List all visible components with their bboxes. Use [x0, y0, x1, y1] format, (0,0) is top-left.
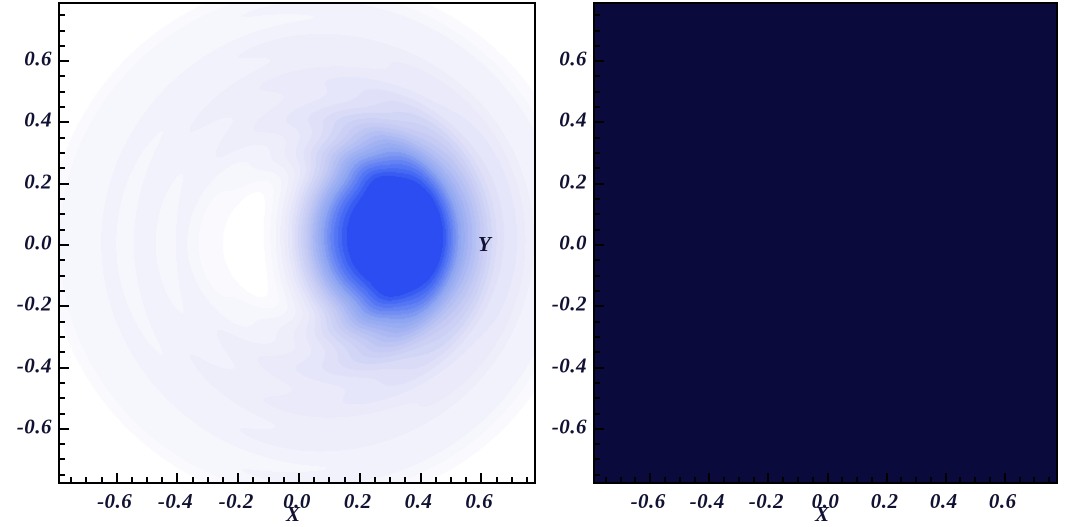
y-tick-label: 0.4: [24, 108, 52, 133]
x-tick-label: 0.2: [871, 489, 899, 514]
right-plot-panel: 0.60.40.20.0-0.2-0.4-0.6 -0.6-0.4-0.20.0…: [593, 2, 1058, 484]
y-tick-label: -0.2: [552, 292, 587, 317]
y-tick-label: -0.4: [552, 353, 587, 378]
right-y-axis-title: Y: [478, 232, 491, 257]
y-tick-label: 0.0: [559, 231, 587, 256]
right-plot-canvas-box: [595, 4, 1056, 482]
y-tick-label: 0.0: [24, 231, 52, 256]
y-tick-label: 0.2: [559, 169, 587, 194]
left-y-tick-labels: 0.60.40.20.0-0.2-0.4-0.6: [0, 2, 52, 484]
x-tick-label: 0.6: [465, 489, 493, 514]
y-tick-label: 0.4: [559, 108, 587, 133]
x-tick-label: -0.2: [219, 489, 254, 514]
x-tick-label: 0.4: [930, 489, 958, 514]
figure-root: 0.60.40.20.0-0.2-0.4-0.6 -0.6-0.4-0.20.0…: [0, 0, 1070, 521]
x-tick-label: -0.2: [749, 489, 784, 514]
y-tick-label: 0.6: [559, 47, 587, 72]
y-tick-label: -0.6: [17, 414, 52, 439]
y-tick-label: -0.6: [552, 414, 587, 439]
left-plot-frame: [58, 2, 536, 484]
y-tick-label: -0.4: [17, 353, 52, 378]
y-tick-label: -0.2: [17, 292, 52, 317]
x-tick-label: 0.6: [989, 489, 1017, 514]
left-heatmap-canvas: [60, 4, 534, 482]
x-tick-label: -0.6: [97, 489, 132, 514]
x-tick-label: -0.4: [690, 489, 725, 514]
x-tick-label: -0.6: [631, 489, 666, 514]
right-x-axis-title: X: [815, 502, 829, 527]
left-plot-panel: 0.60.40.20.0-0.2-0.4-0.6 -0.6-0.4-0.20.0…: [58, 2, 536, 484]
left-plot-canvas-box: [60, 4, 534, 482]
right-y-tick-labels: 0.60.40.20.0-0.2-0.4-0.6: [531, 2, 587, 484]
right-heatmap-canvas: [595, 4, 1056, 482]
x-tick-label: -0.4: [158, 489, 193, 514]
left-x-axis-title: X: [286, 502, 300, 527]
right-plot-frame: [593, 2, 1058, 484]
y-tick-label: 0.6: [24, 47, 52, 72]
x-tick-label: 0.4: [405, 489, 433, 514]
y-tick-label: 0.2: [24, 169, 52, 194]
x-tick-label: 0.2: [344, 489, 372, 514]
